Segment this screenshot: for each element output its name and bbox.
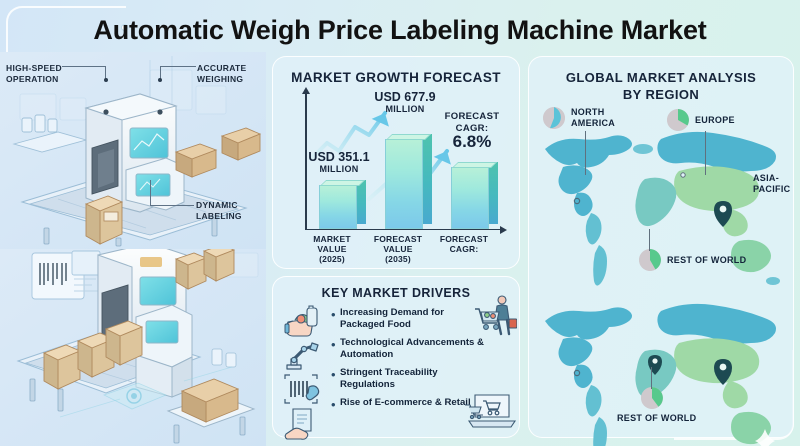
- key-market-drivers-card: KEY MARKET DRIVERS: [272, 276, 520, 438]
- callout-line: DYNAMIC: [196, 200, 242, 211]
- bar-face: [451, 167, 489, 229]
- bar-face: [385, 139, 423, 229]
- label-document-icon: [281, 407, 321, 441]
- tick-line: CAGR:: [423, 244, 505, 254]
- region-leader-line: [649, 229, 650, 251]
- map-title-line2: BY REGION: [529, 86, 793, 103]
- page-title-bar: Automatic Weigh Price Labeling Machine M…: [0, 10, 800, 50]
- chart-plot-area: USD 351.1 MILLION USD 677.9 MILLION FORE…: [305, 93, 501, 230]
- groceries-hand-icon: [281, 305, 321, 339]
- bar-forecast-cagr: [451, 167, 489, 229]
- bar-top-face: [452, 162, 497, 168]
- bullet-icon: •: [331, 368, 340, 381]
- value-amount: USD 677.9: [361, 91, 449, 103]
- region-label-rest-of-world-upper: REST OF WORLD: [667, 255, 746, 266]
- cagr-caption-line1: FORECAST: [439, 111, 505, 123]
- y-axis-arrowhead: [302, 87, 310, 94]
- x-axis-arrowhead: [500, 226, 507, 234]
- callout-line: HIGH-SPEED: [6, 63, 62, 74]
- callout-anchor-dot: [158, 78, 162, 82]
- region-label-line: NORTH: [571, 107, 615, 118]
- value-label-market-value: USD 351.1 MILLION: [297, 151, 381, 175]
- bar-forecast-value-2035: [385, 139, 423, 229]
- region-label-line: PACIFIC: [753, 184, 790, 195]
- region-leader-line: [651, 367, 652, 389]
- pie-europe: [667, 109, 689, 131]
- value-unit: MILLION: [361, 103, 449, 115]
- callout-high-speed-operation: HIGH-SPEED OPERATION: [6, 63, 62, 84]
- region-label-north-america: NORTH AMERICA: [571, 107, 615, 129]
- bar-market-value-2025: [319, 185, 357, 229]
- driver-text: Rise of E-commerce & Retail: [340, 397, 471, 409]
- weigh-labeling-machine-illustration-bottom: [0, 249, 266, 446]
- x-tick-forecast-cagr: FORECAST CAGR:: [423, 234, 505, 254]
- machine-illustration-panel: HIGH-SPEED OPERATION ACCURATE WEIGHING D…: [0, 52, 266, 446]
- region-label-rest-of-world-lower: REST OF WORLD: [617, 413, 696, 424]
- robot-arm-icon: [281, 339, 321, 373]
- callout-line: ACCURATE: [197, 63, 246, 74]
- value-label-forecast-cagr: FORECAST CAGR: 6.8%: [439, 111, 505, 148]
- tick-line: (2035): [357, 254, 439, 264]
- list-item: • Increasing Demand for Packaged Food: [331, 307, 486, 333]
- pie-rest-of-world-upper: [639, 249, 661, 271]
- global-market-analysis-card: GLOBAL MARKET ANALYSIS BY REGION: [528, 56, 794, 438]
- infographic-canvas: Automatic Weigh Price Labeling Machine M…: [0, 0, 800, 446]
- chart-x-axis: [305, 229, 501, 231]
- growth-card-title: MARKET GROWTH FORECAST: [273, 70, 519, 85]
- market-growth-forecast-card: MARKET GROWTH FORECAST: [272, 56, 520, 269]
- bullet-icon: •: [331, 398, 340, 411]
- list-item: • Technological Advancements & Automatio…: [331, 337, 486, 363]
- world-map-upper: [533, 105, 791, 305]
- callout-accurate-weighing: ACCURATE WEIGHING: [197, 63, 246, 84]
- shopper-with-cart-icon: [469, 293, 517, 341]
- list-item: • Stringent Traceability Regulations: [331, 367, 486, 393]
- callout-line: LABELING: [196, 211, 242, 222]
- callout-dynamic-labeling: DYNAMIC LABELING: [196, 200, 242, 221]
- bar-side-face: [357, 180, 366, 224]
- callout-leader-line: [150, 180, 151, 206]
- callout-leader-line: [62, 66, 106, 67]
- callout-line: OPERATION: [6, 74, 62, 85]
- page-title: Automatic Weigh Price Labeling Machine M…: [0, 10, 800, 50]
- bar-top-face: [320, 180, 365, 186]
- tick-line: FORECAST: [423, 234, 505, 244]
- callout-leader-line: [150, 205, 194, 206]
- laptop-ecommerce-icon: [461, 391, 517, 433]
- bullet-icon: •: [331, 338, 340, 351]
- region-label-line: ASIA-: [753, 173, 790, 184]
- callout-leader-line: [160, 66, 196, 67]
- value-unit: MILLION: [297, 163, 381, 175]
- pie-north-america: [543, 107, 565, 129]
- barcode-scanner-icon: [281, 373, 321, 407]
- region-leader-line: [705, 131, 706, 175]
- map-card-title: GLOBAL MARKET ANALYSIS BY REGION: [529, 69, 793, 103]
- driver-text: Increasing Demand for Packaged Food: [340, 307, 486, 332]
- bar-face: [319, 185, 357, 229]
- region-label-line: AMERICA: [571, 118, 615, 129]
- growth-bar-chart: USD 351.1 MILLION USD 677.9 MILLION FORE…: [291, 93, 505, 261]
- value-label-forecast-value: USD 677.9 MILLION: [361, 91, 449, 115]
- bar-top-face: [386, 134, 431, 140]
- callout-line: WEIGHING: [197, 74, 246, 85]
- callout-anchor-dot: [104, 78, 108, 82]
- map-title-line1: GLOBAL MARKET ANALYSIS: [529, 69, 793, 86]
- bar-side-face: [423, 134, 432, 224]
- region-label-asia-pacific: ASIA- PACIFIC: [753, 173, 790, 195]
- cagr-value: 6.8%: [439, 136, 505, 148]
- driver-text: Technological Advancements & Automation: [340, 337, 486, 362]
- value-amount: USD 351.1: [297, 151, 381, 163]
- region-leader-line: [585, 131, 586, 175]
- driver-text: Stringent Traceability Regulations: [340, 367, 486, 392]
- pie-rest-of-world-lower: [641, 387, 663, 409]
- bar-side-face: [489, 162, 498, 224]
- bullet-icon: •: [331, 308, 340, 321]
- region-label-europe: EUROPE: [695, 115, 735, 126]
